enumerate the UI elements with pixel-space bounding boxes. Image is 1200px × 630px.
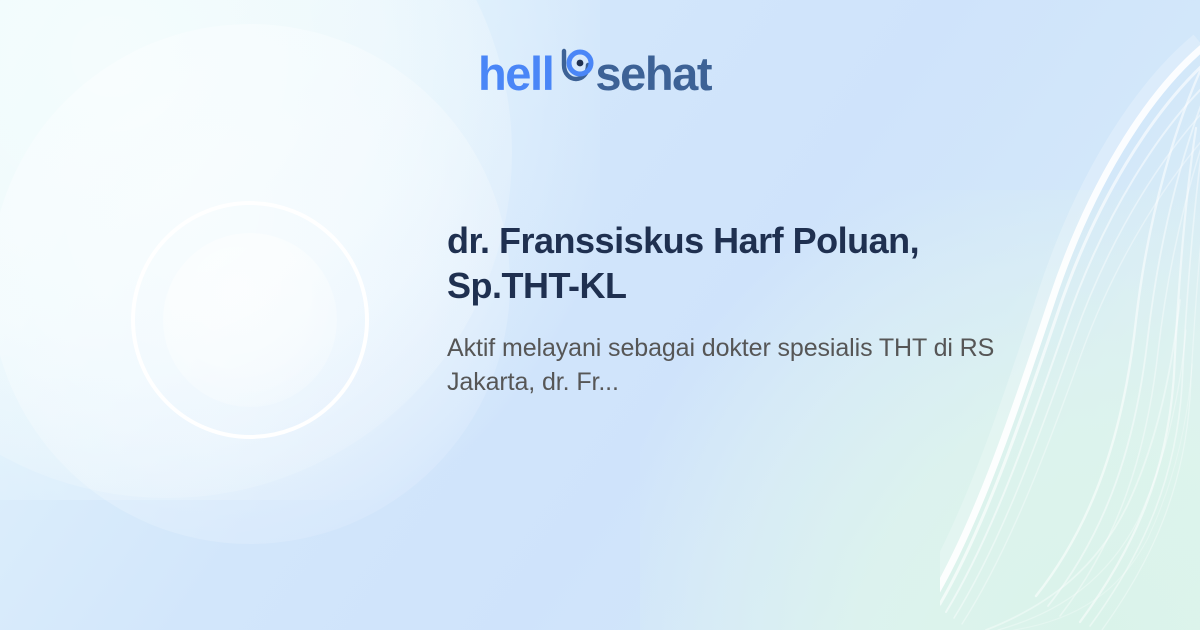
card-content: dr. Franssiskus Harf Poluan, Sp.THT-KL A…: [447, 218, 1047, 400]
brand-logo-second-l: l: [542, 50, 554, 97]
doctor-description: Aktif melayani sebagai dokter spesialis …: [447, 331, 1047, 400]
brand-logo-hel: hel: [478, 50, 542, 97]
stethoscope-o-icon: [554, 43, 594, 90]
social-share-card: hel l sehat dr. Franssiskus Harf Poluan,…: [0, 0, 1200, 630]
brand-logo-sehat: sehat: [595, 50, 711, 97]
brand-logo[interactable]: hel l sehat: [478, 42, 711, 98]
brand-logo-text: hel l sehat: [478, 43, 711, 97]
decorative-ring: [131, 201, 369, 439]
doctor-name-title: dr. Franssiskus Harf Poluan, Sp.THT-KL: [447, 218, 1007, 309]
